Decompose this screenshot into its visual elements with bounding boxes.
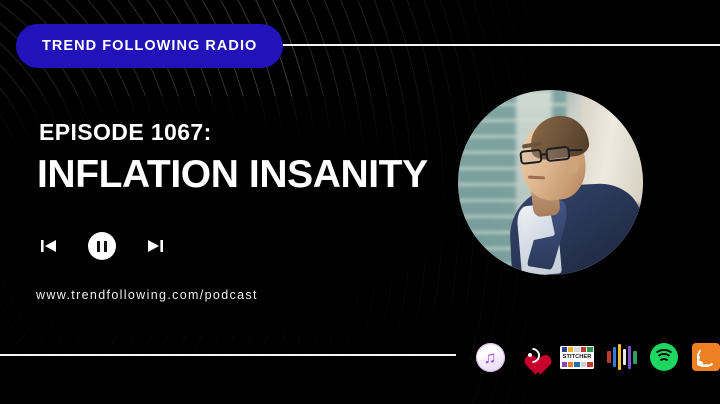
pause-icon[interactable] xyxy=(88,232,116,260)
episode-number-label: EPISODE 1067: xyxy=(39,119,212,146)
apple-podcasts-icon[interactable]: ♫ xyxy=(475,342,505,372)
iheartradio-icon[interactable] xyxy=(517,342,547,372)
host-portrait xyxy=(458,90,643,275)
groove-fade-bottom-left xyxy=(0,300,470,404)
pause-bars xyxy=(97,241,107,252)
stitcher-blocks-bottom xyxy=(562,362,593,367)
divider-line-top xyxy=(259,44,720,46)
portrait-photo xyxy=(458,90,643,275)
spotify-icon[interactable] xyxy=(649,342,679,372)
previous-track-icon[interactable] xyxy=(38,234,60,258)
stitcher-wordmark: STITCHER xyxy=(562,354,593,360)
divider-line-bottom xyxy=(0,354,456,356)
stitcher-blocks-top xyxy=(562,347,593,352)
episode-title: INFLATION INSANITY xyxy=(37,155,428,196)
podcast-episode-card: TREND FOLLOWING RADIO EPISODE 1067: INFL… xyxy=(0,0,720,404)
rss-icon[interactable] xyxy=(691,342,720,372)
music-note-glyph: ♫ xyxy=(484,349,497,366)
platform-links: ♫ STITCHER xyxy=(475,342,720,372)
podcast-url[interactable]: www.trendfollowing.com/podcast xyxy=(36,288,258,302)
show-title-badge[interactable]: TREND FOLLOWING RADIO xyxy=(16,24,283,68)
stitcher-icon[interactable]: STITCHER xyxy=(559,342,595,372)
next-track-icon[interactable] xyxy=(144,234,166,258)
waveform-icon[interactable] xyxy=(607,342,637,372)
player-controls xyxy=(38,232,166,260)
show-title-label: TREND FOLLOWING RADIO xyxy=(42,38,257,54)
